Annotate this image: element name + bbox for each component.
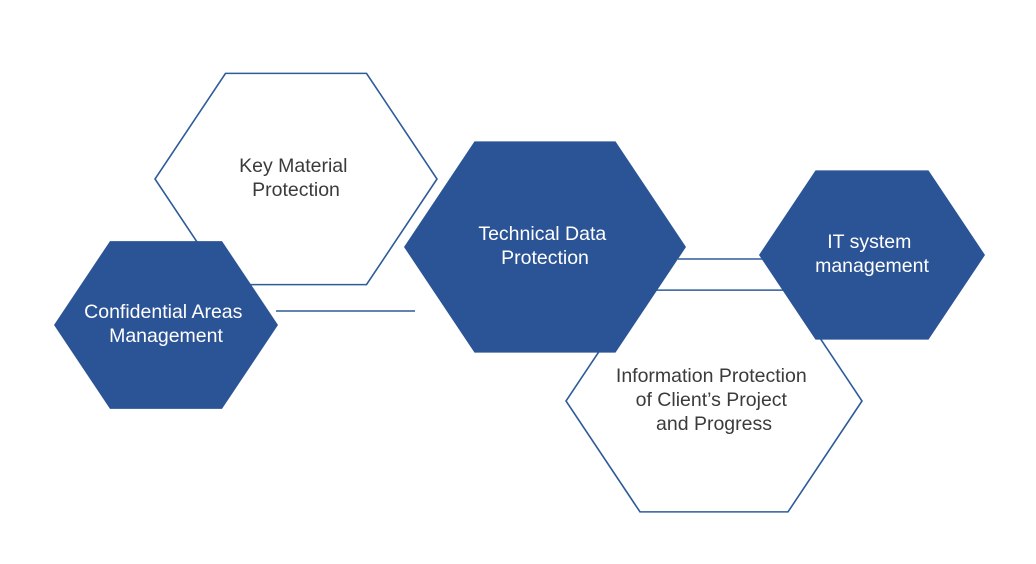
- label-line: and Progress: [656, 413, 772, 435]
- label-line: Protection: [501, 247, 589, 269]
- label-line: management: [815, 255, 929, 277]
- label-line: Confidential Areas: [84, 301, 243, 323]
- label-line: Information Protection: [616, 365, 807, 387]
- hexagon-diagram: Key Material Protection Information Prot…: [0, 0, 1036, 564]
- label-line: Key Material: [239, 155, 347, 177]
- label-line: Management: [109, 325, 223, 347]
- label-line: Protection: [252, 179, 340, 201]
- label-line: of Client’s Project: [636, 389, 788, 411]
- label-line: IT system: [827, 231, 911, 253]
- label-line: Technical Data: [478, 223, 606, 245]
- diagram-canvas: Key Material Protection Information Prot…: [0, 0, 1036, 564]
